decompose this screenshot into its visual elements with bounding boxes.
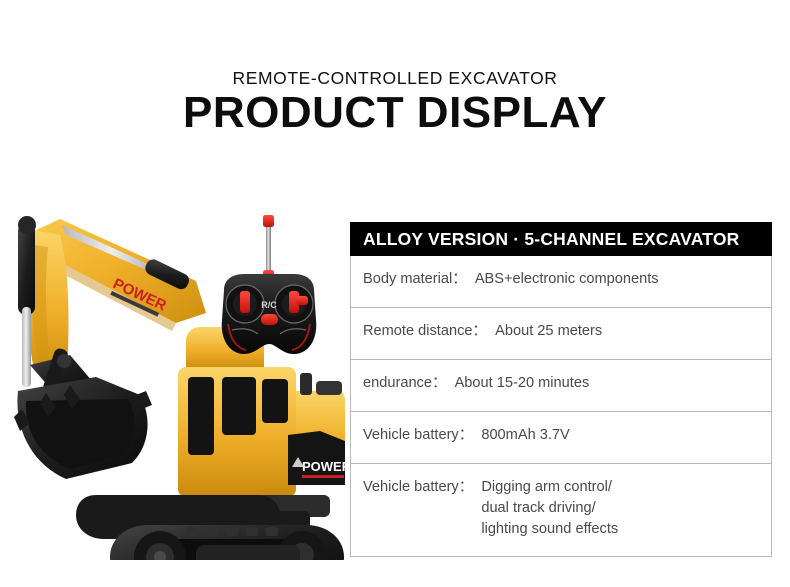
remote-right-joystick [275, 285, 313, 323]
table-row: Vehicle battery： Digging arm control/ du… [351, 464, 771, 556]
spec-table-header: ALLOY VERSION · 5-CHANNEL EXCAVATOR [350, 222, 772, 256]
spec-value: Digging arm control/ dual track driving/… [481, 477, 618, 540]
table-row: endurance： About 15-20 minutes [351, 360, 771, 412]
specification-table: ALLOY VERSION · 5-CHANNEL EXCAVATOR Body… [350, 222, 772, 557]
table-row: Vehicle battery： 800mAh 3.7V [351, 412, 771, 464]
page-title: PRODUCT DISPLAY [0, 90, 790, 136]
svg-text:POWER: POWER [302, 459, 345, 474]
spec-value: About 15-20 minutes [455, 373, 590, 394]
svg-text:R/C: R/C [261, 300, 277, 310]
remote-left-joystick [226, 285, 264, 323]
page-subtitle: REMOTE-CONTROLLED EXCAVATOR [0, 68, 790, 89]
table-row: Remote distance： About 25 meters [351, 308, 771, 360]
spec-value: 800mAh 3.7V [481, 425, 569, 446]
spec-value: ABS+electronic components [475, 269, 659, 290]
remote-antenna [263, 215, 274, 282]
spec-label: Remote distance： [363, 321, 487, 342]
spec-label: Body material： [363, 269, 467, 290]
remote-control-image: R/C [208, 212, 330, 360]
spec-value: About 25 meters [495, 321, 602, 342]
excavator-bucket [14, 377, 152, 479]
spec-label: endurance： [363, 373, 447, 394]
table-row: Body material： ABS+electronic components [351, 256, 771, 308]
product-display-page: REMOTE-CONTROLLED EXCAVATOR PRODUCT DISP… [0, 0, 790, 587]
spec-label: Vehicle battery： [363, 425, 473, 446]
spec-label: Vehicle battery： [363, 477, 473, 498]
